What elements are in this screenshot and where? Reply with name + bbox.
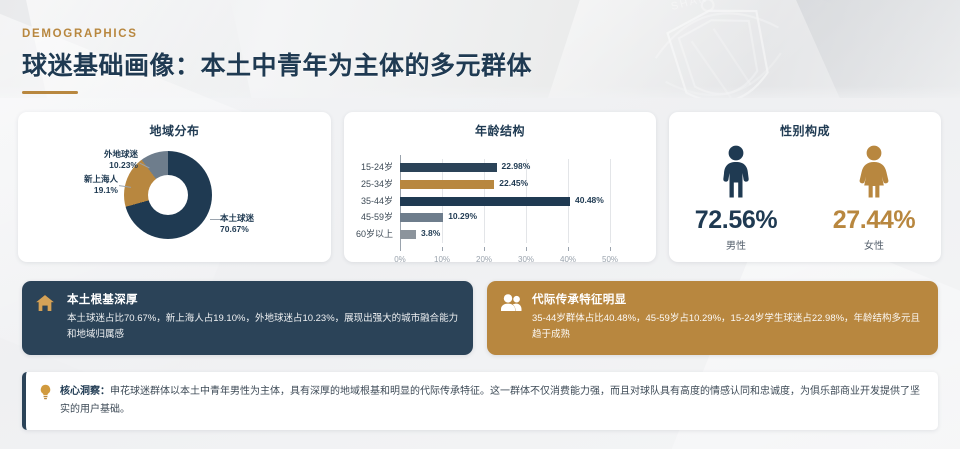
donut-label-newshanghai-value: 19.1% (66, 185, 118, 196)
age-bar-chart: 0%10%20%30%40%50%15-24岁22.98%25-34岁22.45… (344, 139, 656, 261)
core-insight-separator: ： (100, 386, 110, 397)
bar: 60岁以上3.8% (400, 230, 416, 239)
bar-value-label: 3.8% (421, 228, 440, 238)
section-eyebrow: DEMOGRAPHICS (22, 28, 532, 40)
gender-female-label: 女性 (828, 237, 920, 252)
core-insight-body: 申花球迷群体以本土中青年男性为主体，具有深厚的地域根基和明显的代际传承特征。这一… (60, 386, 920, 415)
core-insight-bar: 核心洞察：申花球迷群体以本土中青年男性为主体，具有深厚的地域根基和明显的代际传承… (22, 372, 938, 430)
panel-title-gender: 性别构成 (669, 112, 941, 139)
donut-label-local: 本土球迷 70.67% (220, 213, 254, 234)
donut-label-outsider-name: 外地球迷 (86, 149, 138, 160)
highlight-card-local-roots: 本土根基深厚 本土球迷占比70.67%，新上海人占19.10%，外地球迷占10.… (22, 281, 473, 355)
donut-label-local-name: 本土球迷 (220, 213, 254, 224)
bar-value-label: 22.98% (502, 161, 531, 171)
bar-plot-area: 0%10%20%30%40%50%15-24岁22.98%25-34岁22.45… (400, 159, 610, 243)
x-axis-tick-label: 0% (394, 255, 406, 262)
card-title-local-roots: 本土根基深厚 (67, 291, 459, 307)
bar-category-label: 60岁以上 (356, 227, 393, 240)
bar-value-label: 40.48% (575, 195, 604, 205)
bar-category-label: 25-34岁 (361, 177, 393, 190)
bar-category-label: 15-24岁 (361, 160, 393, 173)
x-axis-tick (610, 247, 611, 251)
gender-female-percent: 27.44% (828, 206, 920, 235)
highlight-cards-row: 本土根基深厚 本土球迷占比70.67%，新上海人占19.10%，外地球迷占10.… (22, 281, 938, 355)
page-header: DEMOGRAPHICS 球迷基础画像：本土中青年为主体的多元群体 (22, 28, 532, 94)
panel-gender-composition: 性别构成 72.56% 男性 27.44% 女性 (669, 112, 941, 262)
gender-female-block: 27.44% 女性 (828, 145, 920, 252)
bar: 15-24岁22.98% (400, 163, 497, 172)
card-text-generational: 35-44岁群体占比40.48%，45-59岁占10.29%，15-24岁学生球… (532, 311, 924, 342)
x-axis-tick-label: 30% (518, 255, 534, 262)
bar-value-label: 10.29% (448, 211, 477, 221)
gender-male-block: 72.56% 男性 (690, 145, 782, 252)
core-insight-text: 核心洞察：申花球迷群体以本土中青年男性为主体，具有深厚的地域根基和明显的代际传承… (60, 383, 922, 419)
panel-title-region: 地域分布 (18, 112, 331, 139)
panel-title-age: 年龄结构 (344, 112, 656, 139)
title-underline (22, 91, 78, 94)
x-axis-tick-label: 50% (602, 255, 618, 262)
bar-category-label: 35-44岁 (361, 194, 393, 207)
gender-figures-row: 72.56% 男性 27.44% 女性 (669, 145, 941, 252)
bar: 25-34岁22.45% (400, 180, 494, 189)
gender-male-percent: 72.56% (690, 206, 782, 235)
x-axis-tick-label: 20% (476, 255, 492, 262)
bar: 45-59岁10.29% (400, 213, 443, 222)
core-insight-label: 核心洞察 (60, 386, 100, 397)
female-figure-icon (857, 145, 891, 199)
donut-label-outsider-value: 10.23% (86, 160, 138, 171)
x-axis-tick-label: 10% (434, 255, 450, 262)
card-title-generational: 代际传承特征明显 (532, 291, 924, 307)
region-donut-chart: 本土球迷 70.67% 新上海人 19.1% 外地球迷 10.23% (18, 139, 331, 259)
donut-label-outsider: 外地球迷 10.23% (86, 149, 138, 170)
highlight-card-generational: 代际传承特征明显 35-44岁群体占比40.48%，45-59岁占10.29%，… (487, 281, 938, 355)
panel-region-distribution: 地域分布 本土球迷 70.67% 新上海人 19.1% 外地球迷 10.23% (18, 112, 331, 262)
x-axis-tick (442, 247, 443, 251)
panel-age-structure: 年龄结构 0%10%20%30%40%50%15-24岁22.98%25-34岁… (344, 112, 656, 262)
donut-label-newshanghai: 新上海人 19.1% (66, 174, 118, 195)
gender-male-label: 男性 (690, 237, 782, 252)
bar-category-label: 45-59岁 (361, 210, 393, 223)
home-icon (35, 291, 57, 345)
x-axis-tick (484, 247, 485, 251)
people-icon (500, 291, 522, 345)
male-figure-icon (719, 145, 753, 199)
x-axis-tick (526, 247, 527, 251)
page-title: 球迷基础画像：本土中青年为主体的多元群体 (22, 46, 532, 82)
x-axis-tick-label: 40% (560, 255, 576, 262)
x-axis-tick (400, 247, 401, 251)
lightbulb-icon (39, 383, 52, 419)
bar-value-label: 22.45% (499, 178, 528, 188)
gridline (610, 159, 611, 243)
donut-label-newshanghai-name: 新上海人 (66, 174, 118, 185)
charts-row: 地域分布 本土球迷 70.67% 新上海人 19.1% 外地球迷 10.23% … (18, 112, 942, 262)
x-axis-tick (568, 247, 569, 251)
bar: 35-44岁40.48% (400, 197, 570, 206)
card-text-local-roots: 本土球迷占比70.67%，新上海人占19.10%，外地球迷占10.23%，展现出… (67, 311, 459, 342)
donut-label-local-value: 70.67% (220, 224, 254, 235)
